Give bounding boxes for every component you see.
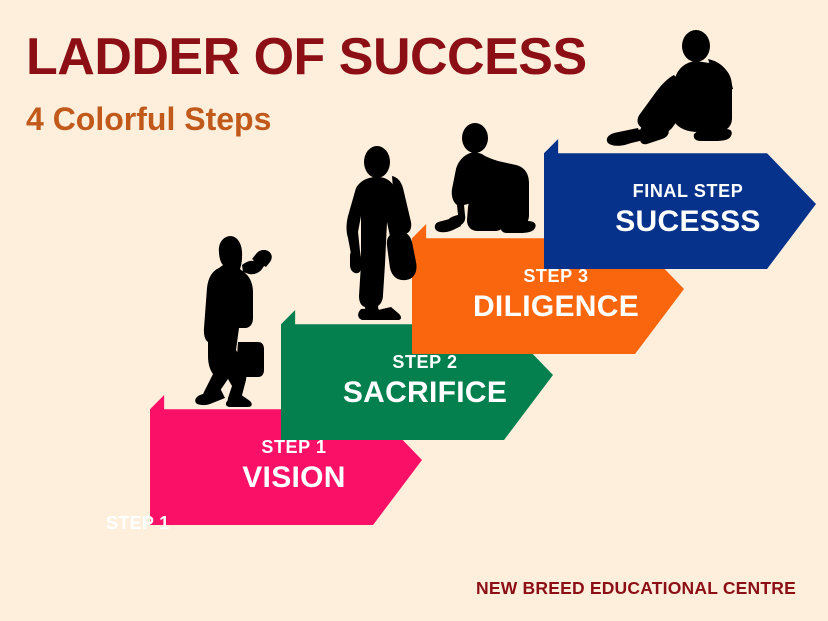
infographic-poster: LADDER OF SUCCESS 4 Colorful Steps STEP … [0,0,828,621]
step-banner-2-eyebrow: STEP 2 [392,353,457,373]
step-banner-4[interactable]: FINAL STEP SUCESSS [544,139,816,269]
step-banner-2-text: STEP 2 SACRIFICE [343,353,507,410]
step-banner-1-title: VISION [242,461,346,496]
ghost-step-caption: STEP 1 [106,513,170,534]
page-title: LADDER OF SUCCESS [26,30,587,85]
step-banner-3-title: DILIGENCE [473,290,639,325]
step-banner-4-eyebrow: FINAL STEP [633,182,744,202]
step-banner-4-text: FINAL STEP SUCESSS [615,182,760,239]
reclining-man-silhouette-icon [604,29,734,147]
step-banner-1-eyebrow: STEP 1 [261,438,326,458]
walking-man-silhouette-icon [192,232,288,407]
step-banner-2-title: SACRIFICE [343,376,507,411]
kneeling-man-silhouette-icon [428,123,538,236]
standing-man-with-briefcase-silhouette-icon [334,146,422,321]
step-banner-1-text: STEP 1 VISION [242,438,346,495]
step-banner-3-eyebrow: STEP 3 [523,267,588,287]
organisation-name: NEW BREED EDUCATIONAL CENTRE [476,578,796,599]
step-banner-4-title: SUCESSS [615,205,760,240]
page-subtitle: 4 Colorful Steps [26,103,271,137]
step-banner-3-text: STEP 3 DILIGENCE [473,267,639,324]
